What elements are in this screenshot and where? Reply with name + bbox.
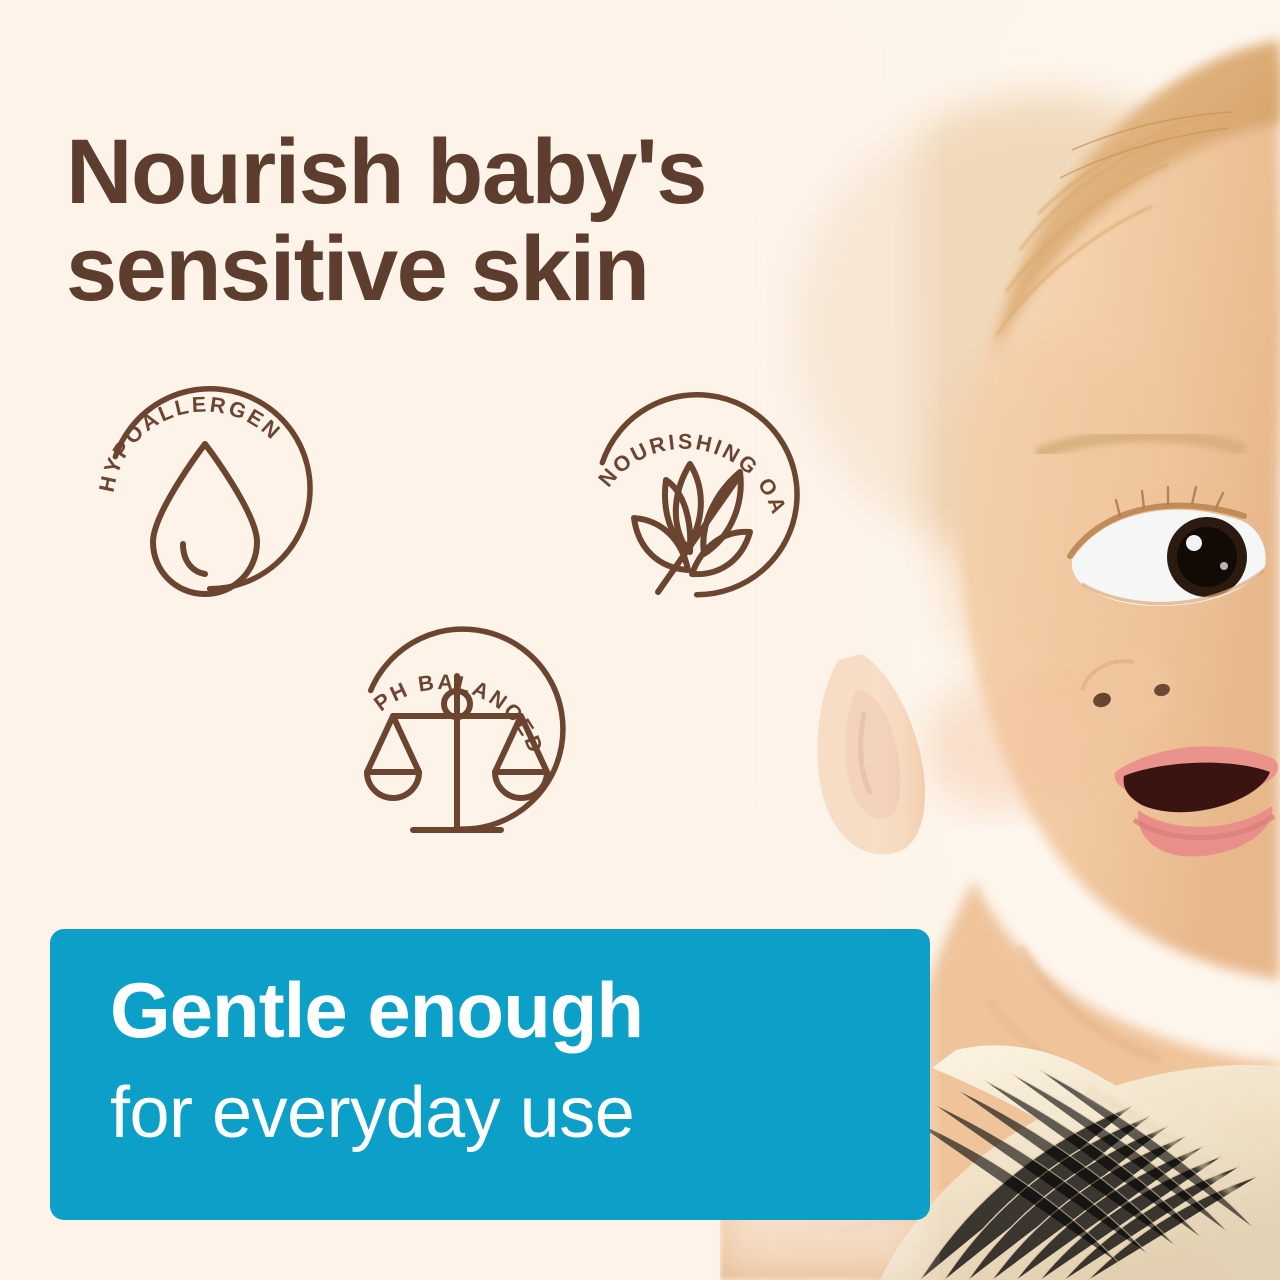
badge-ring	[590, 378, 822, 613]
badge-ring	[360, 612, 587, 847]
badge-ph-balanced-graphic: PH BALANCED	[327, 612, 587, 872]
badge-ph-balanced: PH BALANCED	[327, 612, 587, 872]
oat-sprig-icon	[634, 464, 750, 592]
badge-hypoallergenic-graphic: HYPOALLERGENIC	[75, 372, 335, 632]
water-droplet-icon	[153, 444, 257, 594]
badge-hypoallergenic: HYPOALLERGENIC	[75, 372, 335, 632]
banner-subheadline: for everyday use	[110, 1077, 634, 1149]
product-feature-graphic: Nourish baby's sensitive skin HYPOALLERG…	[0, 0, 1280, 1280]
page-title: Nourish baby's sensitive skin	[66, 124, 826, 319]
badge-nourishing-oat: NOURISHING OAT	[562, 378, 822, 638]
badge-nourishing-oat-graphic: NOURISHING OAT	[562, 378, 822, 638]
banner-headline: Gentle enough	[110, 971, 643, 1049]
gentle-enough-banner: Gentle enough for everyday use	[50, 929, 930, 1220]
